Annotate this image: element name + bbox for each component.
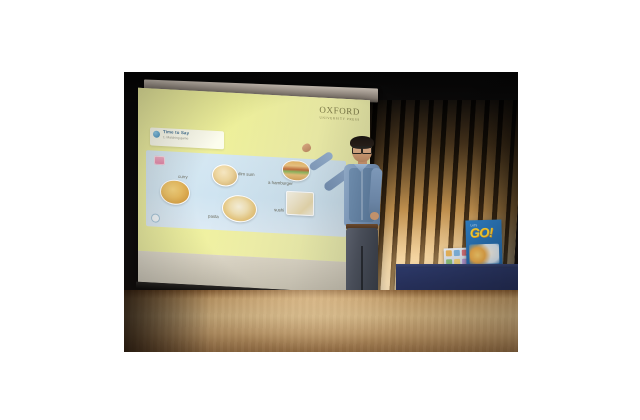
food-item: sushi (286, 191, 314, 217)
presenter-shirt-placket (361, 168, 363, 220)
hamburger-illustration (282, 160, 310, 183)
food-item: pasta (222, 194, 257, 223)
slide-oup-subline: UNIVERSITY PRESS (319, 116, 360, 121)
food-label: dim sum (238, 171, 255, 177)
slide-title-chip: Time to Say 1. Matching game (150, 127, 224, 149)
floor-light-reflection (203, 290, 420, 352)
photograph: OXFORD UNIVERSITY PRESS Time to Say 1. M… (124, 72, 518, 352)
book-title: GO! (470, 225, 493, 241)
food-item: dim sum (212, 164, 238, 187)
book-cover-artwork (469, 244, 500, 265)
book-swatch (454, 250, 460, 256)
book-swatch (446, 250, 452, 256)
glasses-icon (352, 146, 372, 152)
floor-shadow (124, 290, 211, 352)
slide-oup-logo: OXFORD UNIVERSITY PRESS (319, 106, 360, 122)
number-tag-icon (154, 156, 165, 166)
presenter-hand (370, 212, 379, 220)
food-label: pasta (208, 214, 219, 220)
presenter-lowered-arm (368, 168, 382, 217)
dim-sum-illustration (212, 164, 238, 187)
food-label: sushi (274, 207, 284, 213)
sushi-illustration (286, 191, 314, 217)
stage-floor (124, 290, 518, 352)
food-label: curry (178, 174, 188, 180)
curry-illustration (160, 179, 190, 206)
pasta-illustration (222, 194, 257, 223)
audio-circle-icon (151, 213, 160, 222)
food-label: a hamburger (268, 180, 293, 186)
slide-subtitle: 1. Matching game (163, 137, 189, 142)
screenshot-root: OXFORD UNIVERSITY PRESS Time to Say 1. M… (0, 0, 640, 420)
speaker-icon (153, 131, 160, 138)
display-book: Let's GO! (465, 220, 502, 269)
slide-title-text-group: Time to Say 1. Matching game (163, 130, 189, 142)
food-item: curry (160, 179, 190, 206)
food-item: a hamburger (282, 160, 310, 183)
